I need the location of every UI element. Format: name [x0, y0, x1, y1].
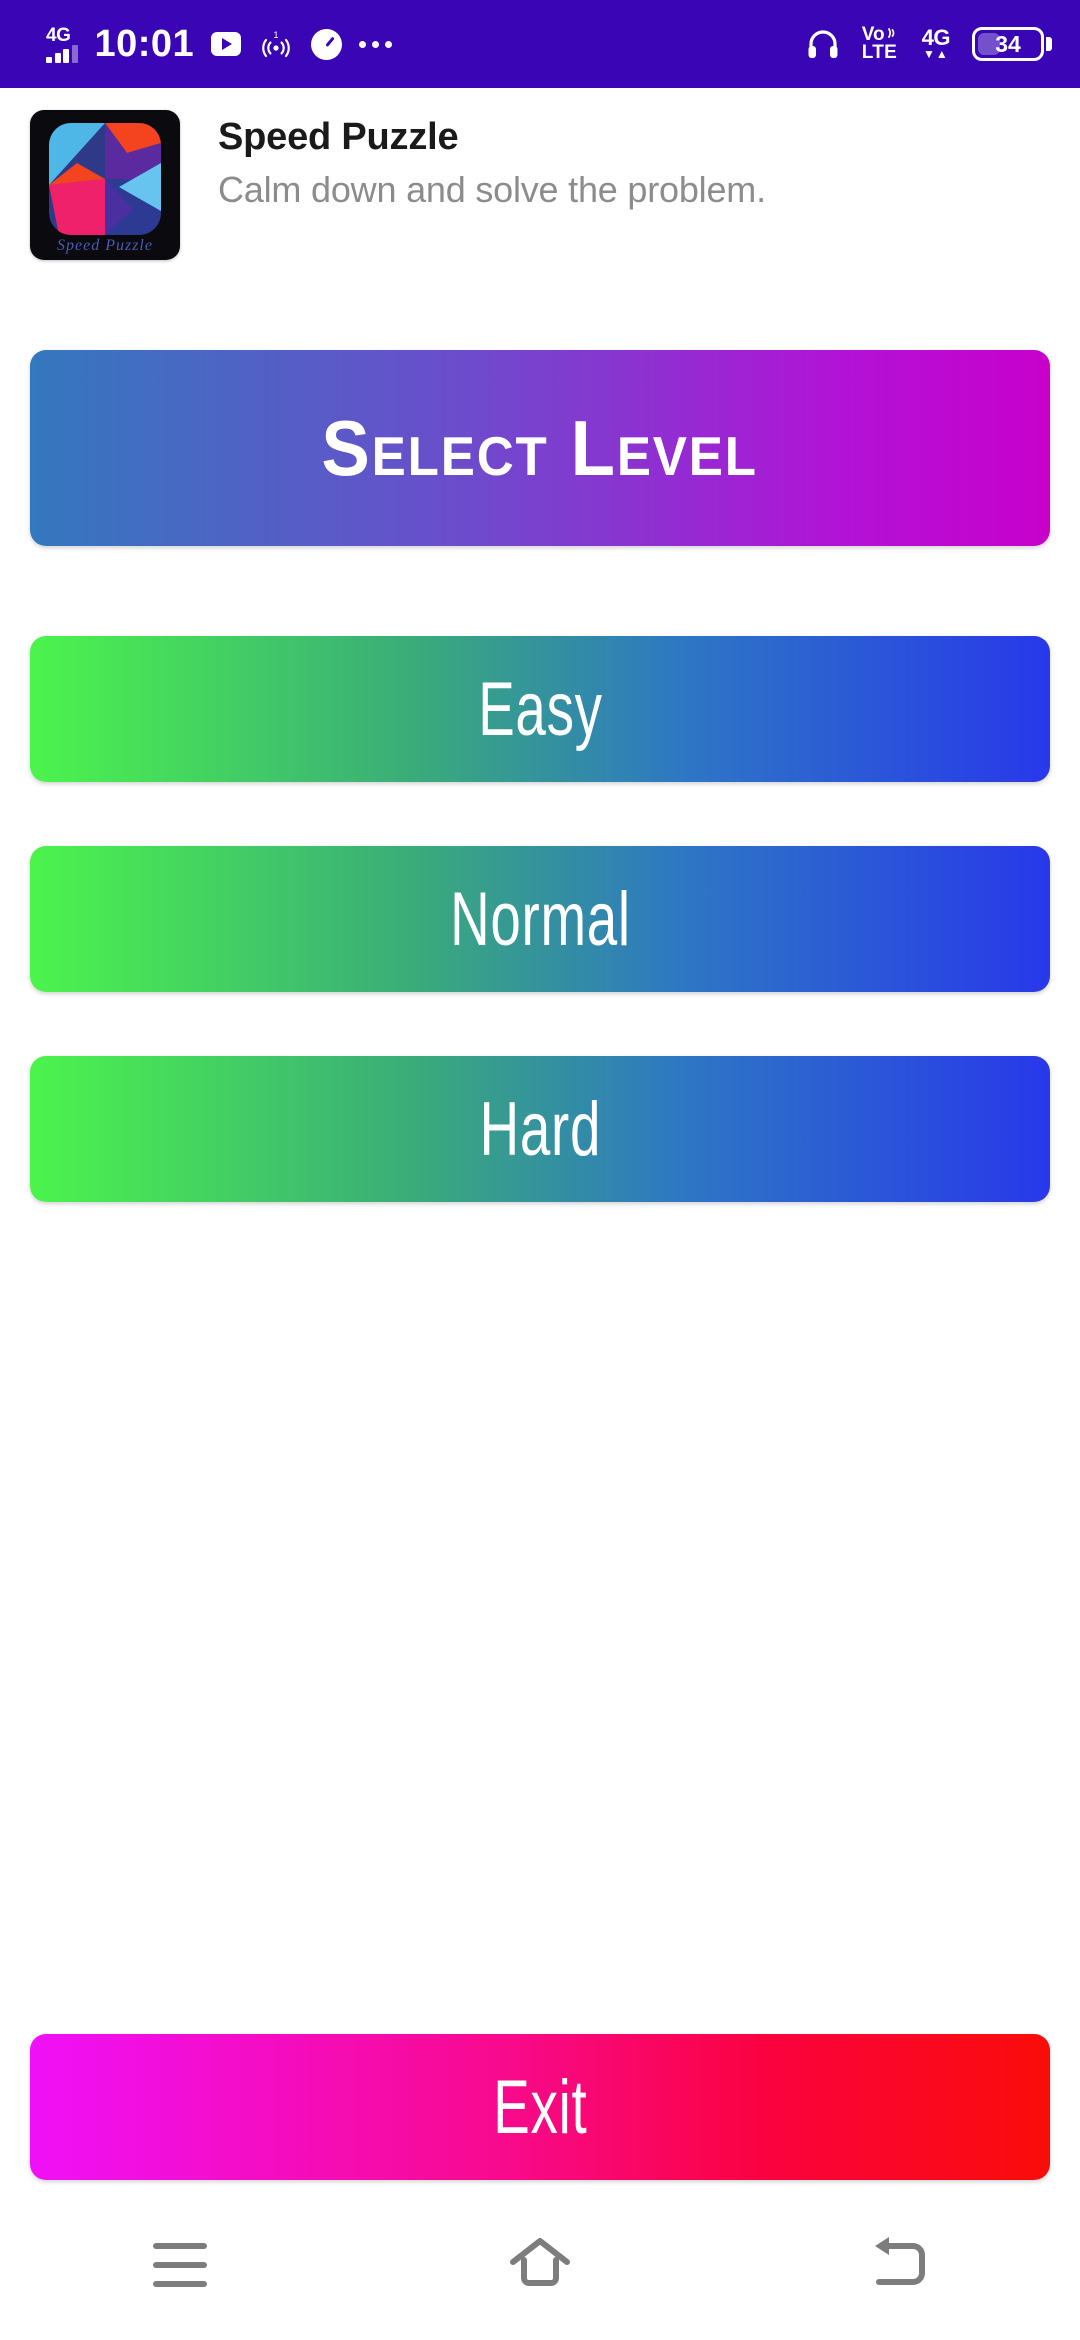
signal-4g-icon: 4G [46, 26, 78, 63]
nfc-hotspot-icon: 1 [258, 29, 294, 59]
mobile-data-4g-icon: 4G ▼▲ [922, 28, 950, 60]
recents-button[interactable] [95, 2210, 265, 2320]
status-bar-clock: 10:01 [95, 23, 195, 66]
signal-network-label: 4G [46, 26, 70, 45]
level-button-easy-label: Easy [478, 666, 603, 753]
app-title: Speed Puzzle [218, 116, 766, 159]
home-button[interactable] [455, 2210, 625, 2320]
signal-bars [46, 46, 78, 63]
speed-puzzle-app-icon: Speed Puzzle Calm down and solve [30, 110, 180, 260]
youtube-icon [211, 32, 241, 56]
more-dots-icon [359, 41, 392, 48]
home-icon [507, 2235, 573, 2296]
mobile-data-arrows: ▼▲ [923, 49, 949, 60]
app-icon-caption-primary: Speed Puzzle [30, 238, 180, 254]
battery-level-text: 34 [995, 31, 1021, 58]
exit-button[interactable]: Exit [30, 2034, 1050, 2180]
status-bar: 4G 10:01 1 [0, 0, 1080, 88]
svg-text:1: 1 [274, 30, 279, 40]
select-level-header: Select Level [30, 350, 1050, 546]
battery-cap [1046, 37, 1052, 51]
volte-icon: Vo LTE [862, 26, 900, 62]
volte-label-line2: LTE [862, 44, 900, 62]
data-saver-gauge-icon [311, 29, 342, 60]
status-bar-left-group: 4G 10:01 1 [46, 23, 392, 66]
app-header-text: Speed Puzzle Calm down and solve the pro… [218, 110, 766, 211]
level-button-hard-label: Hard [479, 1086, 600, 1173]
mobile-data-label: 4G [922, 28, 950, 49]
level-button-normal[interactable]: Normal [30, 846, 1050, 992]
level-button-normal-label: Normal [450, 876, 631, 963]
app-icon-artwork [49, 123, 161, 235]
level-button-easy[interactable]: Easy [30, 636, 1050, 782]
exit-button-label: Exit [493, 2064, 587, 2151]
select-level-label: Select Level [322, 403, 758, 494]
android-navigation-bar [0, 2190, 1080, 2340]
status-bar-right-group: Vo LTE 4G ▼▲ 34 [806, 26, 1052, 62]
level-button-hard[interactable]: Hard [30, 1056, 1050, 1202]
recents-menu-icon [153, 2243, 207, 2287]
battery-icon: 34 [972, 27, 1052, 61]
back-button[interactable] [815, 2210, 985, 2320]
app-header: Speed Puzzle Calm down and solve Speed P… [0, 110, 1080, 260]
back-icon [869, 2235, 931, 2296]
headphones-icon [806, 29, 840, 59]
app-subtitle: Calm down and solve the problem. [218, 169, 766, 211]
